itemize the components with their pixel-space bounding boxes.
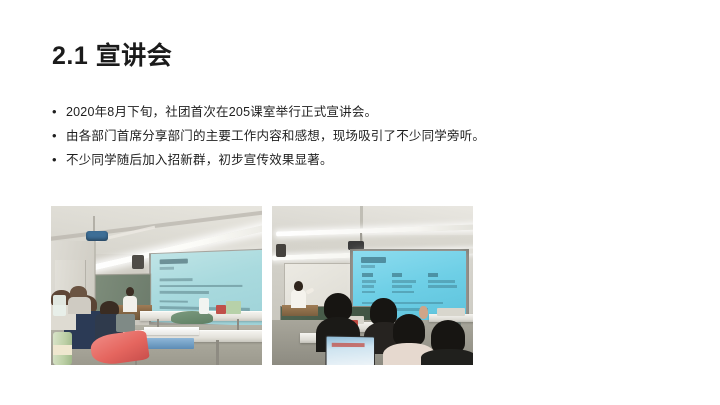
photo1-projector-mount — [93, 216, 95, 233]
list-item: • 2020年8月下旬，社团首次在205课室举行正式宣讲会。 — [52, 100, 652, 124]
photo2-slide-column-heading — [392, 273, 402, 277]
photo-classroom-presentation-side-view — [51, 206, 262, 365]
list-item-text: 不少同学随后加入招新群，初步宣传效果显著。 — [66, 148, 652, 172]
photo2-slide-heading — [361, 257, 386, 263]
photo2-audience-shoulders — [421, 349, 473, 365]
photo1-chair — [116, 314, 135, 331]
photo1-slide-text-line — [159, 285, 242, 288]
photo2-slide-text-line — [392, 291, 415, 294]
photo1-desk-leg — [216, 340, 219, 365]
bullet-marker-icon: • — [52, 124, 66, 148]
photo1-blue-folder — [144, 338, 195, 349]
photo2-slide-text-line — [362, 291, 374, 294]
photo2-audience-hand — [419, 306, 428, 319]
photo2-wall-speaker — [276, 244, 286, 257]
photo2-slide-column-heading — [428, 273, 438, 277]
photo2-slide-column-heading — [362, 273, 372, 277]
photo2-slide-text-line — [428, 280, 455, 283]
photo1-slide-subheading — [159, 267, 174, 270]
photo2-slide-text-line — [392, 285, 412, 288]
list-item-text: 由各部门首席分享部门的主要工作内容和感想，现场吸引了不少同学旁听。 — [66, 124, 652, 148]
bullet-list: • 2020年8月下旬，社团首次在205课室举行正式宣讲会。 • 由各部门首席分… — [52, 100, 652, 172]
photo1-red-cup — [216, 305, 227, 315]
photo2-presenter-head — [294, 281, 303, 291]
bullet-marker-icon: • — [52, 148, 66, 172]
bullet-marker-icon: • — [52, 100, 66, 124]
photo1-student-torso — [68, 297, 91, 314]
photo1-white-bottle — [53, 295, 66, 316]
list-item: • 由各部门首席分享部门的主要工作内容和感想，现场吸引了不少同学旁听。 — [52, 124, 652, 148]
photo2-slide-text-line — [362, 285, 373, 288]
list-item-text: 2020年8月下旬，社团首次在205课室举行正式宣讲会。 — [66, 100, 652, 124]
photo1-slide-text-line — [159, 291, 208, 294]
photo1-ceiling-projector — [86, 231, 108, 241]
page-title: 2.1 宣讲会 — [52, 36, 172, 72]
photo2-slide-text-line — [392, 280, 417, 283]
photo2-slide-text-line — [428, 285, 457, 288]
photo1-green-box — [226, 301, 241, 314]
photo1-bottle-label — [53, 345, 72, 355]
photo2-laptop — [326, 336, 376, 365]
photo2-desk-items — [437, 308, 465, 316]
photo1-green-drink-bottle — [53, 332, 72, 365]
list-item: • 不少同学随后加入招新群，初步宣传效果显著。 — [52, 148, 652, 172]
photo-classroom-audience-back-view — [272, 206, 473, 365]
photo2-audience-head — [393, 314, 425, 346]
photo2-laptop-screen-content — [332, 343, 365, 347]
photo2-slide-text-line — [362, 280, 376, 283]
photo2-slide-subheading — [361, 265, 375, 268]
photo1-slide-text-line — [159, 300, 187, 303]
photo1-slide-text-line — [159, 279, 192, 282]
photo1-water-bottle — [199, 298, 210, 314]
presentation-slide: 2.1 宣讲会 • 2020年8月下旬，社团首次在205课室举行正式宣讲会。 •… — [0, 0, 720, 405]
photo1-slide-heading — [159, 259, 187, 265]
photo1-wall-speaker — [132, 255, 144, 269]
photo1-presenter-body — [123, 296, 137, 312]
photo1-presenter-head — [126, 287, 134, 296]
photo1-papers — [144, 327, 199, 335]
photo2-presenter-body — [291, 290, 306, 308]
